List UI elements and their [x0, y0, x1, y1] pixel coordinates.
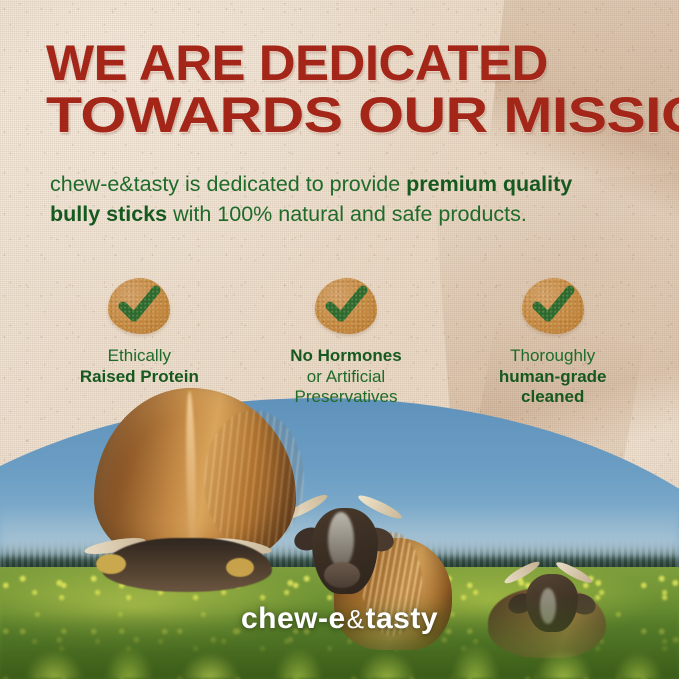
ear-left: [96, 554, 126, 574]
feature-line-2: or Artificial: [307, 367, 385, 386]
body-copy-part-2: with 100% natural and safe products.: [167, 202, 527, 226]
ear-right: [226, 558, 254, 577]
logo-text-before: chew-e: [241, 602, 346, 635]
badge-blob: [522, 278, 584, 334]
feature-line-1: No Hormones: [290, 346, 401, 365]
face-blaze: [328, 512, 354, 568]
check-icon: [115, 283, 163, 327]
feature-item-human-grade-cleaned: Thoroughly human-grade cleaned: [449, 278, 656, 408]
feature-line-2: human-grade: [499, 367, 607, 386]
cow-muzzle: [324, 562, 360, 588]
feature-list: Ethically Raised Protein No Hormones or …: [36, 278, 656, 408]
hero-photo: [0, 398, 679, 679]
headline: WE ARE DEDICATED TOWARDS OUR MISSION!: [46, 40, 656, 138]
feature-label: No Hormones or Artificial Preservatives: [243, 346, 450, 408]
headline-line-2: TOWARDS OUR MISSION!: [46, 92, 679, 138]
badge-blob: [108, 278, 170, 334]
logo-text-after: tasty: [366, 602, 439, 635]
feature-label: Thoroughly human-grade cleaned: [449, 346, 656, 408]
body-copy: chew-e&tasty is dedicated to provide pre…: [50, 170, 590, 229]
brand-logo: chew-e&tasty: [0, 602, 679, 636]
feature-line-2: Raised Protein: [80, 367, 199, 386]
feature-line-3: cleaned: [521, 387, 584, 406]
headline-line-1: WE ARE DEDICATED: [46, 40, 668, 86]
cow-grazing: [88, 388, 303, 608]
badge-blob: [315, 278, 377, 334]
body-copy-part-1: chew-e&tasty is dedicated to provide: [50, 172, 406, 196]
check-icon: [322, 283, 370, 327]
logo-ampersand: &: [346, 604, 366, 634]
feature-label: Ethically Raised Protein: [36, 346, 243, 387]
cow-flank-texture: [204, 410, 304, 550]
feature-item-ethically-raised: Ethically Raised Protein: [36, 278, 243, 408]
feature-line-1: Ethically: [108, 346, 171, 365]
feature-line-3: Preservatives: [295, 387, 398, 406]
check-icon: [529, 283, 577, 327]
feature-line-1: Thoroughly: [510, 346, 595, 365]
feature-item-no-hormones: No Hormones or Artificial Preservatives: [243, 278, 450, 408]
promo-poster: WE ARE DEDICATED TOWARDS OUR MISSION! ch…: [0, 0, 679, 679]
